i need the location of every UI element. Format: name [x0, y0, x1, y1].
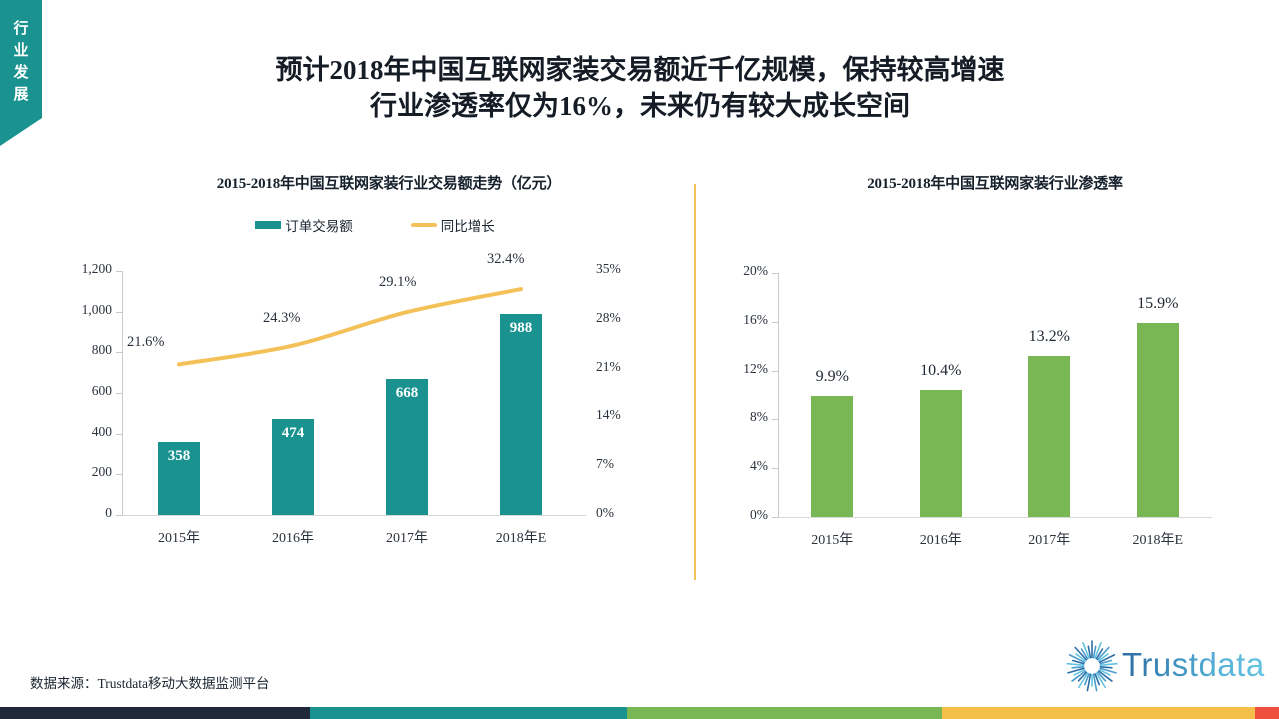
- bar-value-label: 15.9%: [1113, 295, 1203, 313]
- page-title-line-2: 行业渗透率仅为16%，未来仍有较大成长空间: [140, 88, 1140, 124]
- y-axis-line: [778, 273, 779, 517]
- x-axis-category-label: 2015年: [782, 529, 882, 549]
- x-axis-category-label: 2016年: [891, 529, 991, 549]
- bar-value-label: 13.2%: [1004, 328, 1094, 346]
- ribbon-char-2: 业: [0, 40, 42, 62]
- y-axis-tick-label: 16%: [716, 312, 768, 328]
- chart-panel-penetration-rate: 2015-2018年中国互联网家装行业渗透率 0%4%8%12%16%20%9.…: [712, 172, 1272, 592]
- page-title-line-1: 预计2018年中国互联网家装交易额近千亿规模，保持较高增速: [140, 52, 1140, 88]
- bar-penetration-rate-1: [920, 390, 962, 517]
- bar-value-label: 9.9%: [787, 368, 877, 386]
- bar-penetration-rate-0: [811, 396, 853, 517]
- bar-penetration-rate-2: [1028, 356, 1070, 517]
- line-value-label: 21.6%: [127, 334, 164, 351]
- colorbar-segment-5: [1255, 707, 1279, 719]
- x-axis-category-label: 2017年: [999, 529, 1099, 549]
- x-axis-line: [778, 517, 1212, 518]
- ribbon-char-3: 发: [0, 62, 42, 84]
- plot-area-left: 02004006008001,0001,2000%7%14%21%28%35%3…: [60, 253, 642, 553]
- legend-item-yoy-growth: 同比增长: [411, 215, 495, 235]
- chart-title-right: 2015-2018年中国互联网家装行业渗透率: [718, 172, 1272, 193]
- y-axis-tick-label: 4%: [716, 458, 768, 474]
- line-value-label: 32.4%: [487, 251, 524, 268]
- bar-value-label: 10.4%: [896, 362, 986, 380]
- colorbar-segment-2: [310, 707, 627, 719]
- ribbon-char-1: 行: [0, 18, 42, 40]
- line-value-label: 24.3%: [263, 310, 300, 327]
- y-axis-tick-label: 12%: [716, 361, 768, 377]
- y-axis-tick-label: 0%: [716, 507, 768, 523]
- y-axis-tick-label: 8%: [716, 409, 768, 425]
- chart-panel-transaction-volume: 2015-2018年中国互联网家装行业交易额走势（亿元） 订单交易额 同比增长 …: [60, 172, 680, 592]
- ribbon-label: 行 业 发 展: [0, 18, 42, 106]
- legend-label-order-volume: 订单交易额: [285, 215, 353, 235]
- line-value-label: 29.1%: [379, 274, 416, 291]
- footer-colorbar: [0, 707, 1279, 719]
- page-title: 预计2018年中国互联网家装交易额近千亿规模，保持较高增速 行业渗透率仅为16%…: [140, 52, 1140, 124]
- chart-legend-left: 订单交易额 同比增长: [70, 215, 680, 235]
- chart-title-left: 2015-2018年中国互联网家装行业交易额走势（亿元）: [98, 172, 680, 193]
- legend-item-order-volume: 订单交易额: [255, 215, 353, 235]
- sunburst-icon: [1064, 638, 1120, 694]
- colorbar-segment-3: [627, 707, 942, 719]
- logo-wordmark: Trustdata: [1122, 646, 1265, 684]
- section-ribbon-tab: 行 业 发 展: [0, 0, 42, 146]
- trustdata-logo: Trustdata: [1064, 634, 1264, 696]
- y-axis-tick-label: 20%: [716, 263, 768, 279]
- growth-line-series: [60, 253, 642, 553]
- ribbon-char-4: 展: [0, 84, 42, 106]
- colorbar-segment-4: [942, 707, 1255, 719]
- x-axis-category-label: 2018年E: [1108, 529, 1208, 549]
- data-source-note: 数据来源：Trustdata移动大数据监测平台: [30, 672, 270, 692]
- legend-bar-swatch-icon: [255, 221, 281, 229]
- colorbar-segment-1: [0, 707, 310, 719]
- panel-divider: [694, 184, 696, 580]
- bar-penetration-rate-3: [1137, 323, 1179, 517]
- plot-area-right: 0%4%8%12%16%20%9.9%2015年10.4%2016年13.2%2…: [712, 255, 1232, 555]
- legend-label-yoy-growth: 同比增长: [441, 215, 495, 235]
- legend-line-swatch-icon: [411, 223, 437, 227]
